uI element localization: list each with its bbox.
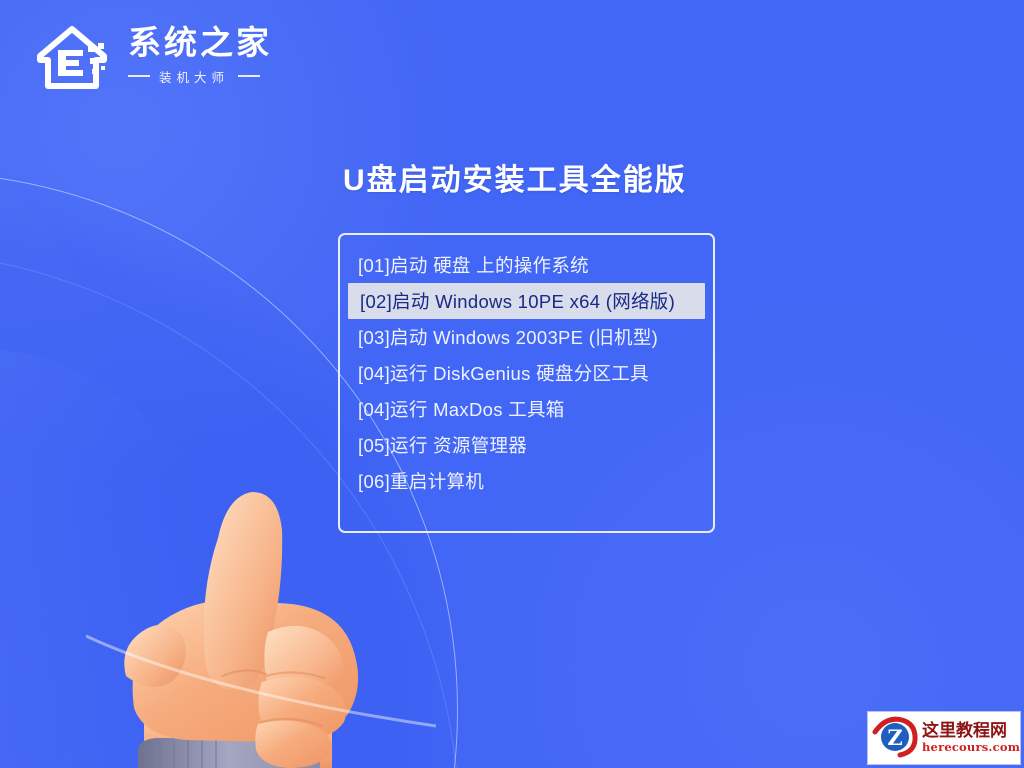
menu-item-04-maxdos[interactable]: [04]运行 MaxDos 工具箱 (346, 391, 707, 427)
menu-item-03[interactable]: [03]启动 Windows 2003PE (旧机型) (346, 319, 707, 355)
boot-menu-screen: 系统之家 装机大师 U盘启动安装工具全能版 [01]启动 硬盘 上的操作系统 [… (0, 0, 1024, 768)
watermark-badge-icon: Z (872, 714, 918, 763)
watermark: Z 这里教程网 herecours.com (868, 712, 1020, 764)
page-title: U盘启动安装工具全能版 (343, 155, 743, 199)
watermark-site-url: herecours.com (922, 741, 1020, 753)
brand-title: 系统之家 (128, 26, 272, 61)
menu-item-02[interactable]: [02]启动 Windows 10PE x64 (网络版) (348, 283, 705, 319)
dash-right-icon (238, 75, 260, 77)
menu-item-01[interactable]: [01]启动 硬盘 上的操作系统 (346, 247, 707, 283)
menu-item-05[interactable]: [05]运行 资源管理器 (346, 427, 707, 463)
watermark-text: 这里教程网 herecours.com (922, 723, 1020, 753)
pointing-hand-illustration (86, 478, 436, 768)
svg-text:Z: Z (887, 725, 902, 750)
dash-left-icon (128, 75, 150, 77)
brand-subtitle-row: 装机大师 (128, 67, 272, 86)
brand-wordmark: 系统之家 装机大师 (128, 26, 272, 86)
menu-item-04-diskgenius[interactable]: [04]运行 DiskGenius 硬盘分区工具 (346, 355, 707, 391)
house-network-logo-icon (34, 16, 114, 96)
watermark-site-name: 这里教程网 (922, 723, 1020, 741)
brand-subtitle: 装机大师 (159, 67, 229, 86)
brand-logo: 系统之家 装机大师 (34, 16, 272, 96)
